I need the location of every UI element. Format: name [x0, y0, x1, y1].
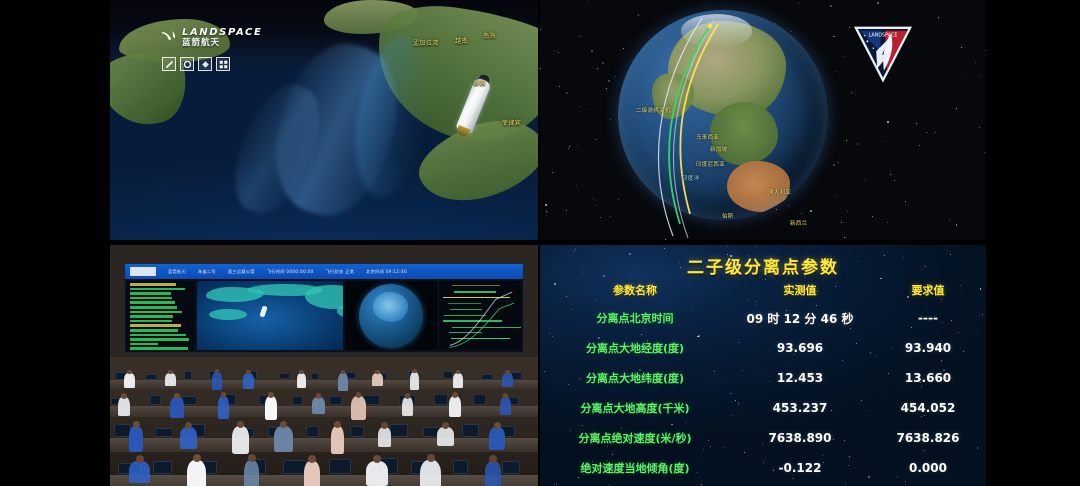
table-row: 分离点北京时间 09 时 12 分 46 秒 ---- — [540, 303, 986, 333]
cell-required: ---- — [870, 311, 986, 325]
operator-person — [265, 396, 277, 420]
table-row: 绝对速度当地倾角(度) -0.122 0.000 — [540, 453, 986, 483]
wall-map-landmass — [209, 309, 247, 320]
operator-monitor — [453, 460, 468, 474]
map-label-2: 南海 — [483, 31, 496, 40]
operator-person — [218, 396, 229, 419]
operator-head — [221, 392, 227, 398]
operator-person — [124, 373, 135, 388]
operator-monitor — [150, 395, 161, 405]
brand-name-en: LANDSPACE — [182, 28, 262, 39]
operator-head — [280, 421, 287, 428]
wall-tile-globe — [345, 281, 437, 350]
operator-person — [274, 426, 293, 452]
control-room-panel: 蓝箭航天 朱雀二号 遥三运载火箭 飞行时间 0000:00:00 飞行状态 正常… — [110, 245, 538, 486]
operator-head — [489, 455, 497, 463]
operator-person — [410, 372, 419, 390]
cell-param-name: 绝对速度当地倾角(度) — [540, 460, 730, 476]
cell-param-name: 分离点北京时间 — [540, 310, 730, 326]
operator-head — [341, 370, 345, 374]
operator-monitor — [306, 426, 319, 437]
globe-label-7: 新西兰 — [790, 219, 807, 227]
wall-data-line — [130, 297, 172, 300]
operator-monitor — [462, 424, 479, 437]
operator-monitor — [279, 373, 290, 379]
map-label-1: 越南 — [455, 36, 468, 45]
operator-person — [304, 461, 320, 486]
operator-head — [215, 369, 219, 373]
operator-person — [243, 373, 254, 389]
wall-data-line — [130, 334, 186, 337]
operator-head — [494, 422, 501, 429]
wall-map-landmass — [305, 285, 343, 308]
operator-person — [453, 373, 463, 388]
operator-head — [127, 370, 131, 374]
operator-person — [502, 373, 513, 387]
wall-data-line — [130, 343, 158, 346]
table-row: 分离点大地经度(度) 93.696 93.940 — [540, 333, 986, 363]
map-label-0: 孟加拉湾 — [413, 38, 439, 47]
operator-person — [437, 427, 454, 446]
column-header-measured: 实测值 — [730, 282, 870, 298]
operator-head — [316, 393, 322, 399]
patch-wordmark: LANDSPACE — [869, 33, 898, 39]
operator-head — [356, 392, 362, 398]
circle-icon[interactable] — [180, 57, 194, 71]
operator-monitor — [481, 374, 493, 380]
operator-monitor — [153, 461, 172, 474]
operator-head — [248, 454, 256, 462]
operator-desk — [110, 475, 538, 486]
operator-person — [378, 427, 391, 447]
cell-measured: 09 时 12 分 46 秒 — [730, 310, 870, 327]
globe-label-2: 新加坡 — [710, 145, 727, 153]
wall-logo-icon — [130, 267, 156, 276]
operator-monitor — [350, 426, 364, 437]
table-title: 二子级分离点参数 — [540, 253, 986, 278]
operator-head — [427, 454, 435, 462]
letterbox-left — [0, 0, 110, 486]
cell-measured: 453.237 — [730, 401, 870, 415]
operator-monitor — [390, 424, 408, 437]
operator-head — [373, 455, 381, 463]
operator-person — [331, 426, 344, 454]
cell-param-name: 分离点大地纬度(度) — [540, 370, 730, 386]
wall-data-line — [130, 347, 188, 350]
operator-head — [442, 422, 449, 429]
wall-header-item-5: 北京时间 09:12:46 — [366, 269, 407, 275]
wall-data-line — [130, 306, 177, 309]
globe-label-4: 印度洋 — [682, 174, 699, 182]
operator-monitor — [329, 459, 351, 474]
quad-divider-vertical — [538, 0, 540, 486]
map-label-3: 泰国 — [473, 78, 486, 87]
operator-person — [118, 397, 130, 416]
operator-head — [174, 393, 180, 399]
cell-required: 0.000 — [870, 461, 986, 475]
wall-header-item-4: 飞行状态 正常 — [326, 269, 355, 275]
cell-measured: 7638.890 — [730, 431, 870, 445]
operator-head — [246, 370, 250, 374]
operator-head — [505, 370, 509, 374]
letterbox-right — [986, 0, 1080, 486]
cell-required: 7638.826 — [870, 431, 986, 445]
landspace-wordmark: LANDSPACE 蓝箭航天 — [182, 28, 262, 47]
cell-measured: -0.122 — [730, 461, 870, 475]
operator-head — [237, 421, 244, 428]
wall-data-line — [130, 292, 171, 295]
operator-person — [297, 373, 306, 388]
cell-param-name: 分离点绝对速度(米/秒) — [540, 430, 730, 446]
wall-mini-globe — [359, 284, 423, 348]
video-wall-body — [125, 279, 523, 352]
operator-monitor — [145, 374, 157, 380]
operator-person — [366, 461, 388, 486]
column-header-required: 要求值 — [870, 282, 986, 298]
operator-person — [351, 396, 366, 420]
operator-desk — [110, 438, 538, 452]
operator-monitor — [155, 428, 173, 437]
wall-map-rocket-marker — [260, 305, 268, 317]
cell-required: 93.940 — [870, 341, 986, 355]
landspace-mark-icon — [160, 29, 177, 46]
operator-monitor — [311, 373, 319, 380]
operator-person — [312, 397, 325, 414]
operator-head — [268, 392, 274, 398]
operator-head — [121, 393, 127, 399]
operator-monitor — [502, 461, 520, 474]
operator-head — [456, 370, 460, 374]
measure-icon[interactable] — [162, 57, 176, 71]
cell-required: 13.660 — [870, 371, 986, 385]
cell-required: 454.052 — [870, 401, 986, 415]
map-label-4: 菲律宾 — [502, 118, 521, 127]
cell-measured: 93.696 — [730, 341, 870, 355]
operator-head — [375, 370, 379, 374]
table-row: 分离点绝对速度(米/秒) 7638.890 7638.826 — [540, 423, 986, 453]
operator-monitor — [329, 396, 342, 405]
table-header-row: 参数名称 实测值 要求值 — [540, 281, 986, 299]
operator-head — [381, 422, 388, 429]
operator-head — [168, 370, 172, 374]
wall-header-item-2: 遥三运载火箭 — [228, 269, 255, 275]
wall-data-line — [130, 301, 175, 304]
operator-head — [133, 421, 140, 428]
column-header-name: 参数名称 — [540, 282, 730, 298]
table-row: 分离点大地纬度(度) 12.453 13.660 — [540, 363, 986, 393]
operator-monitor — [182, 396, 197, 405]
telemetry-table-panel: 二子级分离点参数 参数名称 实测值 要求值 分离点北京时间 09 时 12 分 … — [540, 245, 986, 486]
operator-head — [452, 392, 458, 398]
wall-data-line — [130, 338, 189, 341]
table-body: 分离点北京时间 09 时 12 分 46 秒 ---- 分离点大地经度(度) 9… — [540, 303, 986, 482]
operator-monitor — [434, 394, 448, 405]
operator-head — [503, 393, 509, 399]
operator-person — [187, 460, 206, 486]
video-wall: 蓝箭航天 朱雀二号 遥三运载火箭 飞行时间 0000:00:00 飞行状态 正常… — [124, 263, 524, 353]
control-room-floor — [110, 357, 538, 486]
globe-trajectory-panel: LANDSPACE 二级游机关机 马来西亚 新加坡 印度尼西亚 印度洋 澳大利亚… — [540, 0, 986, 240]
operator-head — [185, 422, 192, 429]
operator-person — [180, 427, 197, 449]
wall-data-line — [130, 315, 173, 318]
wall-tile-parameters — [127, 281, 195, 350]
wall-chart-curve — [439, 281, 521, 350]
wall-tile-tracking-map — [197, 281, 343, 350]
mission-patch-icon: LANDSPACE — [852, 22, 914, 84]
operator-person — [500, 397, 511, 415]
operator-person — [244, 460, 259, 486]
video-wall-header: 蓝箭航天 朱雀二号 遥三运载火箭 飞行时间 0000:00:00 飞行状态 正常… — [125, 264, 523, 279]
quad-divider-horizontal — [110, 240, 986, 245]
tracking-map-panel: LANDSPACE 蓝箭航天 孟加拉湾 越南 — [110, 0, 538, 240]
operator-monitor — [443, 371, 453, 379]
operator-monitor — [292, 396, 303, 405]
operator-person — [402, 397, 413, 416]
operator-head — [334, 421, 341, 428]
operator-person — [338, 373, 348, 391]
globe-label-1: 马来西亚 — [696, 133, 719, 141]
landspace-logo: LANDSPACE 蓝箭航天 — [160, 28, 262, 47]
diamond-icon[interactable] — [198, 57, 212, 71]
quad-view-container: LANDSPACE 蓝箭航天 孟加拉湾 越南 — [0, 0, 1080, 486]
wall-data-line — [130, 324, 181, 327]
operator-person — [372, 373, 383, 386]
brand-name-cn: 蓝箭航天 — [182, 39, 262, 48]
operator-person — [165, 373, 176, 386]
table-row: 分离点大地高度(千米) 453.237 454.052 — [540, 393, 986, 423]
operator-person — [129, 426, 143, 452]
globe-label-5: 澳大利亚 — [768, 188, 791, 196]
cell-param-name: 分离点大地高度(千米) — [540, 400, 730, 416]
operator-person — [485, 461, 501, 486]
trajectory-overlay — [618, 0, 848, 240]
operator-person — [170, 397, 184, 418]
operator-monitor — [473, 394, 486, 405]
operator-person — [212, 372, 222, 390]
operator-head — [308, 455, 316, 463]
operator-person — [232, 426, 249, 454]
wall-header-item-1: 朱雀二号 — [198, 269, 216, 275]
operator-person — [489, 427, 505, 450]
operator-monitor — [184, 371, 192, 380]
globe-label-0: 二级游机关机 — [636, 106, 671, 114]
map-toolbar[interactable] — [162, 57, 230, 71]
operator-person — [449, 396, 461, 417]
wall-data-line — [130, 320, 172, 323]
wall-tile-charts — [439, 281, 521, 350]
cell-param-name: 分离点大地经度(度) — [540, 340, 730, 356]
operator-person — [129, 461, 150, 483]
operator-head — [412, 369, 416, 373]
wall-data-line — [130, 288, 185, 291]
cell-measured: 12.453 — [730, 371, 870, 385]
operator-person — [420, 460, 441, 486]
wall-data-line — [130, 329, 178, 332]
globe-label-3: 印度尼西亚 — [696, 160, 725, 168]
globe-label-6: 珀斯 — [722, 212, 734, 220]
operator-head — [405, 393, 411, 399]
wall-data-line — [130, 311, 182, 314]
operator-head — [136, 455, 144, 463]
operator-head — [193, 454, 201, 462]
grid-icon[interactable] — [216, 57, 230, 71]
operator-head — [299, 370, 303, 374]
wall-header-item-3: 飞行时间 0000:00:00 — [267, 269, 314, 275]
wall-header-item-0: 蓝箭航天 — [168, 269, 186, 275]
wall-data-line — [130, 283, 176, 286]
